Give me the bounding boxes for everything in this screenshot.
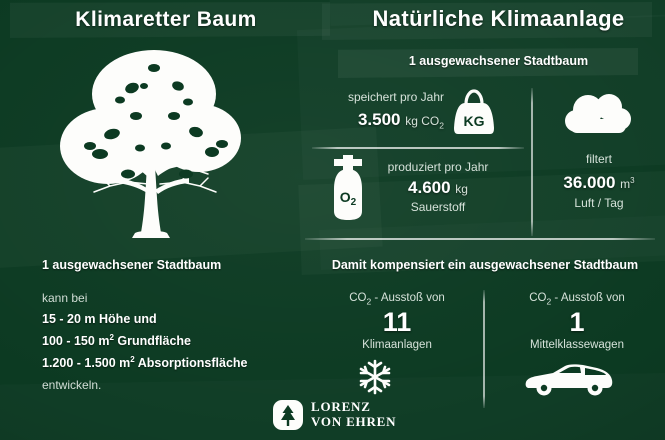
right-panel-subject: 1 ausgewachsener Stadtbaum (332, 54, 665, 68)
fact-label-secondary: Luft / Tag (540, 196, 658, 210)
left-stats-intro: kann bei (42, 291, 312, 305)
tree-in-rounded-square-icon (273, 400, 303, 430)
stat-label: Höhe und (99, 312, 157, 326)
left-stats-outro: entwickeln. (42, 378, 312, 392)
left-stats-block: 1 ausgewachsener Stadtbaum kann bei 15 -… (42, 258, 312, 392)
stat-label: Grundfläche (117, 334, 191, 348)
tree-silhouette-icon (36, 42, 266, 247)
divider-horizontal-upper (312, 147, 524, 149)
fact-co2-storage: speichert pro Jahr 3.500 kg CO2 (314, 88, 444, 130)
compensation-item-car: CO2 - Ausstoß von 1 Mittelklassewagen (492, 292, 662, 351)
fact-value: 4.600 kg (374, 178, 502, 198)
stat-unit: m (84, 312, 95, 326)
left-stats-row: 1.200 - 1.500 m2 Absorptionsfläche (42, 355, 312, 370)
fact-unit-exponent: 3 (630, 176, 634, 185)
fact-label: filtert (540, 150, 658, 169)
right-panel-title: Natürliche Klimaanlage (332, 6, 665, 32)
logo-line-1: LORENZ (311, 400, 396, 415)
fact-unit: m3 (620, 177, 634, 191)
compensation-caption-secondary: Mittelklassewagen (492, 339, 662, 351)
compensation-heading: Damit kompensiert ein ausgewachsener Sta… (305, 258, 665, 272)
fact-number: 36.000 (563, 173, 615, 192)
fact-value: 3.500 kg CO2 (314, 110, 444, 130)
compensation-caption-secondary: Klimaanlagen (312, 339, 482, 351)
company-logo: LORENZ VON EHREN (273, 400, 396, 430)
svg-text:KG: KG (464, 113, 485, 129)
fact-unit-subscript: 2 (439, 120, 444, 130)
stat-value: 15 - 20 (42, 312, 81, 326)
fact-number: 4.600 (408, 178, 451, 197)
compensation-caption: CO2 - Ausstoß von (492, 292, 662, 306)
infographic-root: Klimaretter Baum Natürliche Klimaanlage … (0, 0, 665, 440)
car-icon (525, 362, 613, 396)
stat-unit: m (98, 334, 109, 348)
fact-label-secondary: Sauerstoff (374, 200, 502, 214)
logo-wordmark: LORENZ VON EHREN (311, 400, 396, 429)
stat-unit-exponent: 2 (109, 333, 113, 342)
fact-unit: kg CO2 (405, 114, 444, 128)
stat-value: 1.200 - 1.500 (42, 356, 116, 370)
compensation-number: 11 (312, 308, 482, 338)
logo-line-2: VON EHREN (311, 415, 396, 430)
kg-weight-icon: KG (452, 88, 496, 138)
compensation-item-air-conditioners: CO2 - Ausstoß von 11 Klimaanlagen (312, 292, 482, 351)
fact-value: 36.000 m3 (540, 173, 658, 193)
left-stats-row: 100 - 150 m2 Grundfläche (42, 333, 312, 348)
divider-vertical-compensation (483, 290, 485, 408)
fact-air-filtering: filtert 36.000 m3 Luft / Tag (540, 150, 658, 210)
fact-oxygen-production: produziert pro Jahr 4.600 kg Sauerstoff (374, 160, 502, 214)
snowflake-icon (356, 358, 394, 396)
fact-label: speichert pro Jahr (348, 90, 444, 104)
left-stats-row: 15 - 20 m Höhe und (42, 312, 312, 326)
compensation-number: 1 (492, 308, 662, 338)
compensation-caption: CO2 - Ausstoß von (312, 292, 482, 306)
stat-unit: m (119, 356, 130, 370)
cloud-icon (562, 92, 634, 140)
divider-horizontal-lower (305, 238, 655, 240)
stat-label: Absorptionsfläche (138, 356, 248, 370)
divider-vertical-air (531, 88, 533, 236)
fact-unit: kg (455, 182, 468, 196)
left-panel-title: Klimaretter Baum (0, 8, 332, 32)
fact-number: 3.500 (358, 110, 401, 129)
oxygen-cylinder-icon: O2 (330, 155, 366, 221)
stat-unit-exponent: 2 (130, 355, 134, 364)
left-stats-heading: 1 ausgewachsener Stadtbaum (42, 258, 312, 272)
fact-label: produziert pro Jahr (374, 160, 502, 174)
stat-value: 100 - 150 (42, 334, 95, 348)
